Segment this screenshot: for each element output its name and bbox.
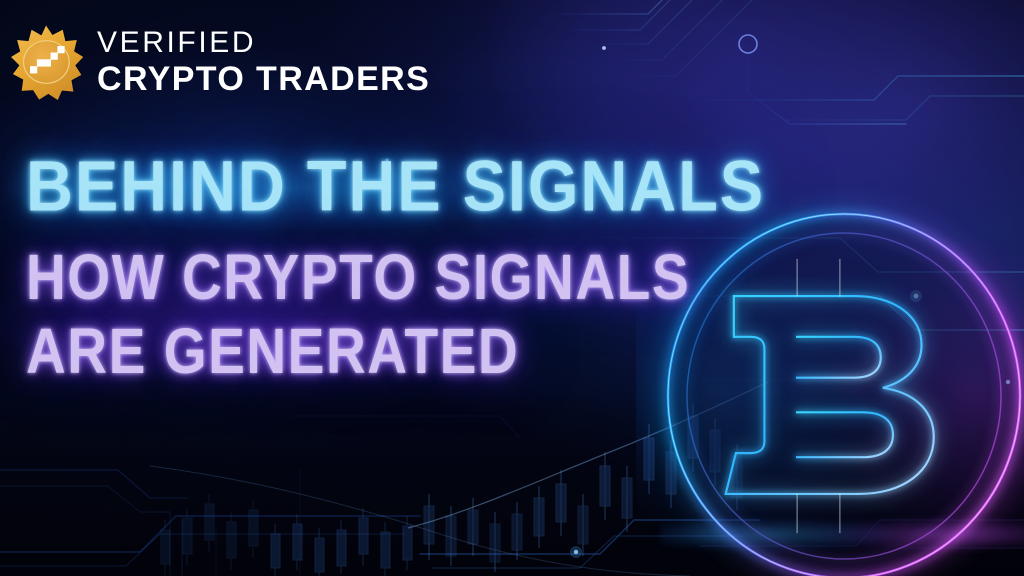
brand-name-line2: CRYPTO TRADERS [97, 61, 430, 97]
headline-line-1: BEHIND THE SIGNALS [26, 145, 765, 227]
sunburst-badge-icon [8, 23, 84, 101]
brand-logo[interactable]: VERIFIED CRYPTO TRADERS [8, 23, 430, 101]
headline-line-2: HOW CRYPTO SIGNALS [26, 241, 750, 315]
brand-name-line1: VERIFIED [97, 27, 430, 59]
headline-block: BEHIND THE SIGNALS HOW CRYPTO SIGNALS AR… [26, 148, 788, 385]
promo-banner: VERIFIED CRYPTO TRADERS BEHIND THE SIGNA… [0, 0, 1024, 576]
brand-wordmark: VERIFIED CRYPTO TRADERS [97, 27, 430, 98]
headline-line-3: ARE GENERATED [26, 315, 750, 389]
